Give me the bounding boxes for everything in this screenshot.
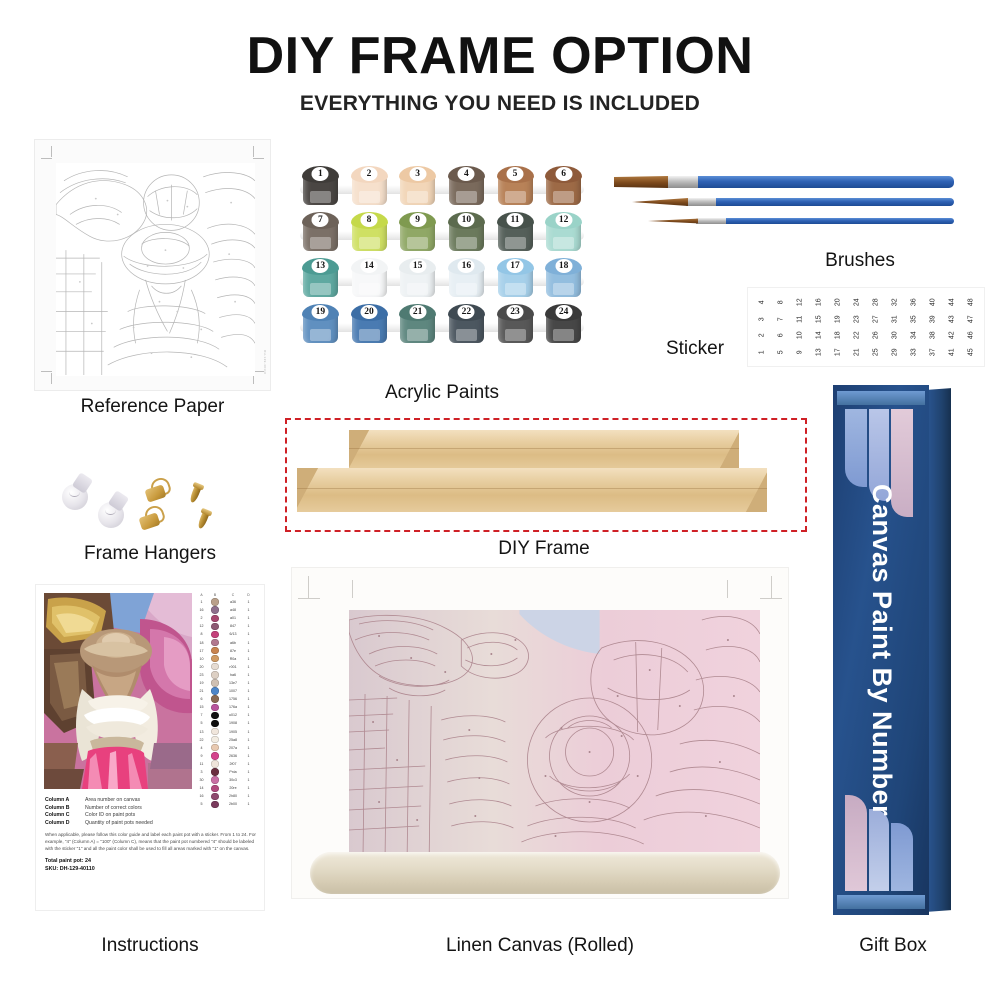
sticker-number: 21 [848,342,865,361]
legend-quantity: 1 [243,705,254,709]
legend-row: 1319051 [196,728,258,736]
instructions-note: When applicable, please follow this colo… [45,831,256,852]
paint-pot-number: 16 [458,259,475,273]
d-ring-2 [140,506,164,528]
legend-area-number: 6 [196,697,207,701]
paint-pot-5[interactable]: 5 [497,166,534,206]
legend-color-swatch [211,679,218,686]
paint-pot-number: 23 [507,305,524,319]
gift-box: Canvas Paint By Number [833,385,951,915]
instructions-column-description: Area number on canvas [85,797,140,803]
paint-pot-number: 18 [555,259,572,273]
legend-quantity: 1 [243,778,254,782]
canvas-rolled-edge [310,852,780,894]
legend-row: 1787e1 [196,647,258,655]
legend-area-number: 16 [196,608,207,612]
sticker-number: 33 [905,342,922,361]
legend-quantity: 1 [243,665,254,669]
legend-color-swatch [211,752,218,759]
legend-row: 4207a1 [196,744,258,752]
legend-swatch-cell [207,768,223,775]
legend-header-cell: A [196,593,207,597]
legend-row: 2a011 [196,614,258,622]
legend-swatch-cell [207,598,223,605]
sticker-number: 25 [867,342,884,361]
reference-paper: DH-129-40110 [35,140,270,390]
paint-pot-15[interactable]: 15 [399,258,436,298]
legend-area-number: 4 [196,746,207,750]
legend-area-number: 5 [196,721,207,725]
legend-area-number: 3 [196,770,207,774]
legend-quantity: 1 [243,754,254,758]
paint-pot-23[interactable]: 23 [497,304,534,344]
paint-pot-2[interactable]: 2 [351,166,388,206]
legend-row: 3030c31 [196,776,258,784]
paint-pot-1[interactable]: 1 [302,166,339,206]
legend-row: 18a6b1 [196,638,258,646]
paint-pot-number: 7 [312,213,329,227]
paint-pot-number: 20 [361,305,378,319]
legend-row: 926361 [196,752,258,760]
paint-pot-6[interactable]: 6 [545,166,582,206]
legend-quantity: 1 [243,657,254,661]
paint-pot-number: 14 [361,259,378,273]
acrylic-paints-group: 123456789101112131415161718192021222324 [296,166,588,352]
plastic-hanger-2 [98,502,124,528]
paint-pot-row: 131415161718 [296,258,588,298]
paint-pot-rail [300,323,584,332]
legend-swatch-cell [207,744,223,751]
legend-color-id: 176a [223,705,243,709]
legend-swatch-cell [207,752,223,759]
paint-pot-row: 789101112 [296,212,588,252]
instructions-column-line: Column BNumber of correct colors [45,805,256,811]
paint-pot-rail [300,185,584,194]
legend-color-id: 1908 [223,721,243,725]
legend-quantity: 1 [243,713,254,717]
instructions-column-key-label: Column C [45,812,79,818]
paint-pot-number: 9 [409,213,426,227]
legend-color-swatch [211,760,218,767]
legend-row: 3Pnia1 [196,768,258,776]
legend-row: 15176a1 [196,703,258,711]
instructions-total-paint-pot: Total paint pot: 24 [45,858,256,864]
legend-color-id: 87e [223,649,243,653]
legend-quantity: 1 [243,681,254,685]
paint-pot-rail [300,231,584,240]
sticker-number: 1 [753,342,770,361]
sticker-sheet: 4812162024283236404448371115192327313539… [748,288,984,366]
legend-area-number: 18 [196,641,207,645]
paint-pot-number: 13 [312,259,329,273]
legend-area-number: 20 [196,665,207,669]
paint-pot-number: 4 [458,167,475,181]
legend-row: 519081 [196,719,258,727]
reference-paper-lineart [56,163,255,376]
instructions-column-key-label: Column A [45,797,79,803]
legend-quantity: 1 [243,673,254,677]
paint-pot-3[interactable]: 3 [399,166,436,206]
legend-color-id: a36 [223,600,243,604]
paint-pot-number: 1 [312,167,329,181]
brushes-group [614,172,954,242]
instructions-column-key: Column AArea number on canvasColumn BNum… [45,797,256,826]
legend-color-swatch [211,776,218,783]
page-subtitle: EVERYTHING YOU NEED IS INCLUDED [0,92,1000,116]
paint-pot-13[interactable]: 13 [302,258,339,298]
brush-round-medium [632,198,954,206]
legend-swatch-cell [207,655,223,662]
legend-swatch-cell [207,704,223,711]
legend-color-id: 847 [223,624,243,628]
legend-swatch-cell [207,623,223,630]
legend-row: 1913e71 [196,679,258,687]
legend-swatch-cell [207,679,223,686]
legend-quantity: 1 [243,746,254,750]
paint-pot-10[interactable]: 10 [448,212,485,252]
linen-canvas-caption: Linen Canvas (Rolled) [292,935,788,957]
paint-pot-row: 123456 [296,166,588,206]
paint-pot-number: 3 [409,167,426,181]
legend-color-id: u012 [223,713,243,717]
instructions-column-key-label: Column B [45,805,79,811]
legend-color-swatch [211,785,218,792]
legend-color-id: 25a8 [223,738,243,742]
legend-row: 7u0121 [196,711,258,719]
paint-pot-number: 10 [458,213,475,227]
legend-swatch-cell [207,671,223,678]
legend-swatch-cell [207,760,223,767]
legend-quantity: 1 [243,762,254,766]
legend-quantity: 1 [243,608,254,612]
sticker-number-grid: 4812162024283236404448371115192327313539… [752,294,980,360]
legend-color-swatch [211,704,218,711]
paint-pot-16[interactable]: 16 [448,258,485,298]
instructions-column-description: Quantity of paint pots needed [85,820,153,826]
legend-row: 86/131 [196,630,258,638]
legend-color-id: a01 [223,616,243,620]
legend-color-id: 2f07 [223,762,243,766]
legend-color-id: a48 [223,608,243,612]
brush-flat [614,176,954,188]
legend-quantity: 1 [243,600,254,604]
paint-pot-8[interactable]: 8 [351,212,388,252]
paint-pot-row: 192021222324 [296,304,588,344]
legend-row: 20r0011 [196,663,258,671]
d-ring-1 [146,478,170,500]
legend-area-number: 15 [196,705,207,709]
legend-row: 128471 [196,622,258,630]
sticker-number: 41 [943,342,960,361]
instructions-column-description: Color ID on paint pots [85,812,135,818]
paint-pot-rail [300,277,584,286]
paint-pot-9[interactable]: 9 [399,212,436,252]
legend-color-swatch [211,687,218,694]
legend-swatch-cell [207,639,223,646]
paint-pot-11[interactable]: 11 [497,212,534,252]
sticker-number: 9 [791,342,808,361]
paint-pot-18[interactable]: 18 [545,258,582,298]
legend-header-cell: D [243,593,254,597]
legend-area-number: 2 [196,616,207,620]
paint-pot-number: 5 [507,167,524,181]
reference-paper-side-code: DH-129-40110 [263,350,267,374]
legend-rows: 1a36116a4812a01112847186/13118a6b11787e1… [196,598,258,808]
legend-swatch-cell [207,606,223,613]
legend-color-swatch [211,623,218,630]
acrylic-paints-caption: Acrylic Paints [296,382,588,404]
legend-area-number: 17 [196,649,207,653]
instructions-caption: Instructions [36,935,264,957]
screw-2 [197,509,211,529]
legend-swatch-cell [207,631,223,638]
paint-pot-12[interactable]: 12 [545,212,582,252]
legend-area-number: 23 [196,673,207,677]
legend-color-swatch [211,606,218,613]
legend-area-number: 30 [196,778,207,782]
diy-frame-caption: DIY Frame [285,538,803,560]
frame-bar-bottom [297,468,767,512]
paint-pot-24[interactable]: 24 [545,304,582,344]
legend-quantity: 1 [243,632,254,636]
paint-pot-number: 8 [361,213,378,227]
paint-pot-22[interactable]: 22 [448,304,485,344]
legend-area-number: 19 [196,681,207,685]
instructions-column-line: Column DQuantity of paint pots needed [45,820,256,826]
frame-hangers-caption: Frame Hangers [40,543,260,565]
paint-pot-7[interactable]: 7 [302,212,339,252]
instructions-column-line: Column CColor ID on paint pots [45,812,256,818]
sticker-caption: Sticker [640,338,750,360]
frame-hangers-group [60,470,240,540]
legend-color-swatch [211,598,218,605]
legend-swatch-cell [207,720,223,727]
legend-color-swatch [211,615,218,622]
paint-pot-number: 6 [555,167,572,181]
paint-pot-17[interactable]: 17 [497,258,534,298]
legend-color-swatch [211,655,218,662]
legend-swatch-cell [207,695,223,702]
paint-pot-number: 15 [409,259,426,273]
legend-color-id: 2636 [223,754,243,758]
screw-1 [189,483,203,503]
legend-quantity: 1 [243,770,254,774]
paint-pot-14[interactable]: 14 [351,258,388,298]
legend-swatch-cell [207,712,223,719]
paint-pot-number: 17 [507,259,524,273]
legend-color-id: 30c3 [223,778,243,782]
legend-quantity: 1 [243,697,254,701]
legend-color-swatch [211,663,218,670]
legend-quantity: 1 [243,786,254,790]
legend-color-swatch [211,631,218,638]
legend-color-id: 207a [223,746,243,750]
legend-color-id: 6/13 [223,632,243,636]
legend-row: 2110071 [196,687,258,695]
legend-swatch-cell [207,663,223,670]
legend-color-swatch [211,671,218,678]
paint-pot-number: 19 [312,305,329,319]
legend-quantity: 1 [243,616,254,620]
gift-box-label-text: Canvas Paint By Number [865,484,897,816]
total-label: Total paint pot: [45,858,84,864]
legend-color-swatch [211,639,218,646]
legend-color-id: 1007 [223,689,243,693]
legend-color-swatch [211,647,218,654]
legend-color-id: r001 [223,665,243,669]
legend-area-number: 9 [196,754,207,758]
legend-header-row: ABCD [196,593,258,597]
legend-swatch-cell [207,615,223,622]
paint-pot-number: 21 [409,305,426,319]
sticker-number: 29 [886,342,903,361]
legend-row: 10R0a1 [196,655,258,663]
legend-color-swatch [211,695,218,702]
instructions-column-key-label: Column D [45,820,79,826]
instructions-sku: SKU: DH-129-40110 [45,866,256,872]
legend-color-id: a6b [223,641,243,645]
paint-pot-number: 2 [361,167,378,181]
legend-color-id: Pnia [223,770,243,774]
sku-label: SKU: [45,866,58,872]
legend-row: 2225a81 [196,736,258,744]
legend-row: 617561 [196,695,258,703]
legend-row: 1a361 [196,598,258,606]
legend-area-number: 14 [196,786,207,790]
legend-quantity: 1 [243,738,254,742]
legend-color-swatch [211,744,218,751]
legend-color-swatch [211,720,218,727]
legend-swatch-cell [207,728,223,735]
paint-pot-4[interactable]: 4 [448,166,485,206]
linen-canvas-lineart [349,610,760,855]
legend-area-number: 12 [196,624,207,628]
gift-box-side-panel [927,388,951,912]
infographic-stage: DIY FRAME OPTION EVERYTHING YOU NEED IS … [0,0,1000,1000]
plastic-hanger-1 [62,484,88,510]
legend-color-swatch [211,768,218,775]
instructions-column-line: Column AArea number on canvas [45,797,256,803]
legend-area-number: 21 [196,689,207,693]
legend-quantity: 1 [243,689,254,693]
legend-color-id: 13e7 [223,681,243,685]
gift-box-label: Canvas Paint By Number [833,385,929,915]
instructions-color-preview [44,593,192,789]
sticker-number: 17 [829,342,846,361]
legend-header-cell: C [223,593,243,597]
reference-paper-caption: Reference Paper [35,396,270,418]
instructions-sheet: ABCD 1a36116a4812a01112847186/13118a6b11… [36,585,264,910]
sticker-number: 5 [772,342,789,361]
sticker-number: 37 [924,342,941,361]
legend-color-id: R0a [223,657,243,661]
paint-pot-number: 24 [555,305,572,319]
frame-bar-top [349,430,739,470]
paint-pot-21[interactable]: 21 [399,304,436,344]
linen-canvas [292,568,788,898]
legend-color-id: 1756 [223,697,243,701]
legend-color-id: 20re [223,786,243,790]
instructions-column-description: Number of correct colors [85,805,142,811]
legend-swatch-cell [207,687,223,694]
legend-area-number: 1 [196,600,207,604]
legend-area-number: 7 [196,713,207,717]
legend-color-swatch [211,712,218,719]
legend-swatch-cell [207,776,223,783]
legend-area-number: 8 [196,632,207,636]
legend-row: 1420re1 [196,784,258,792]
paint-pot-number: 11 [507,213,524,227]
gift-box-front-panel: Canvas Paint By Number [833,385,929,915]
legend-row: 16a481 [196,606,258,614]
legend-color-id: 1905 [223,730,243,734]
sku-value: DH-129-40110 [60,866,95,872]
legend-area-number: 13 [196,730,207,734]
legend-color-id: ha6 [223,673,243,677]
legend-area-number: 11 [196,762,207,766]
legend-quantity: 1 [243,730,254,734]
page-title: DIY FRAME OPTION [0,26,1000,86]
legend-quantity: 1 [243,721,254,725]
diy-frame-highlight [285,418,807,532]
legend-header-cell: B [207,593,223,597]
legend-swatch-cell [207,736,223,743]
paint-pot-number: 22 [458,305,475,319]
legend-quantity: 1 [243,641,254,645]
legend-color-swatch [211,736,218,743]
legend-quantity: 1 [243,649,254,653]
paint-pot-19[interactable]: 19 [302,304,339,344]
paint-pot-number: 12 [555,213,572,227]
legend-quantity: 1 [243,624,254,628]
brushes-caption: Brushes [760,250,960,272]
sticker-number: 13 [810,342,827,361]
instructions-text-block: Column AArea number on canvasColumn BNum… [45,797,256,872]
gift-box-caption: Gift Box [828,935,958,957]
paint-pot-20[interactable]: 20 [351,304,388,344]
legend-area-number: 22 [196,738,207,742]
legend-swatch-cell [207,647,223,654]
legend-row: 112f071 [196,760,258,768]
legend-swatch-cell [207,785,223,792]
total-value: 24 [85,858,91,864]
legend-area-number: 10 [196,657,207,661]
legend-row: 23ha61 [196,671,258,679]
legend-color-swatch [211,728,218,735]
brush-detail-fine [648,218,954,224]
sticker-number: 45 [962,342,979,361]
